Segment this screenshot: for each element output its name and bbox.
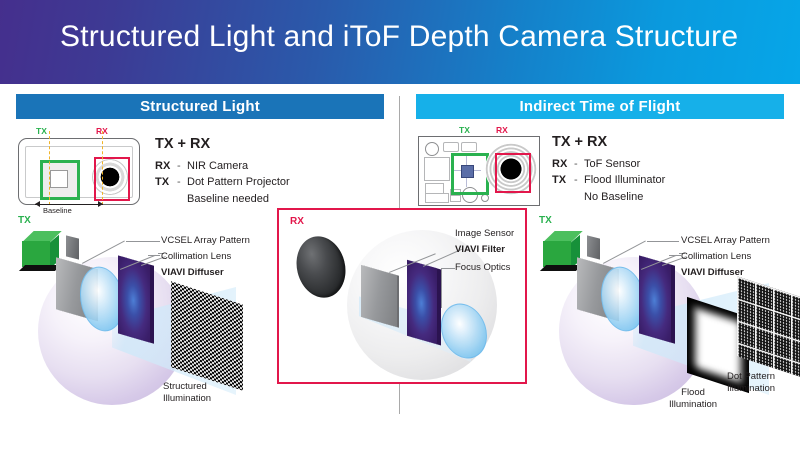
callout-vcsel-array-right: VCSEL Array Pattern — [681, 235, 770, 246]
specs-left-row-rx: RX - NIR Camera — [155, 159, 335, 175]
caption-flood-line1: Flood — [669, 387, 717, 399]
caption-structured-illumination: Structured Illumination — [163, 381, 211, 405]
leader-line-h-lens-left — [148, 255, 160, 256]
caption-flood-illumination: Flood Illumination — [669, 387, 717, 411]
specs-right-tx-dash: - — [574, 173, 584, 189]
section-header-structured-light: Structured Light — [16, 94, 384, 119]
pcb-component-a — [443, 142, 459, 152]
vcsel-cube-right — [543, 231, 577, 265]
specs-left-rx-value: NIR Camera — [187, 159, 248, 175]
leader-line-focus-optics-h — [441, 268, 455, 269]
callout-collimation-lens-left: Collimation Lens — [161, 251, 231, 262]
specs-left-rx-dash: - — [177, 159, 187, 175]
callout-vcsel-array-left: VCSEL Array Pattern — [161, 235, 250, 246]
specs-right-row-tx: TX - Flood Illuminator — [552, 173, 732, 189]
specs-right-row-rx: RX - ToF Sensor — [552, 157, 732, 173]
specs-right-tx-key: TX — [552, 173, 574, 189]
itof-camera-module — [418, 136, 540, 206]
section-header-left-label: Structured Light — [140, 98, 260, 115]
caption-dot-line1: Dot Pattern — [727, 371, 775, 383]
pcb-component-g — [450, 195, 461, 202]
specs-right-tx-value: Flood Illuminator — [584, 173, 665, 189]
specs-left-tx-key: TX — [155, 175, 177, 191]
specs-left-note: Baseline needed — [187, 192, 335, 208]
module-left-board — [25, 146, 133, 198]
tx-diagram-left-badge: TX — [18, 215, 31, 226]
leader-line-focus-optics-v — [441, 268, 442, 308]
tof-sensor-highlight — [495, 153, 531, 193]
pcb-component-e — [425, 193, 449, 203]
tx-optics-diagram-right: TX VCSEL Array Pattern Collimation Lens … — [531, 215, 800, 405]
pcb-screw-top-left — [425, 142, 439, 156]
callout-collimation-lens-right: Collimation Lens — [681, 251, 751, 262]
leader-line-h-vcsel-right — [647, 241, 679, 242]
tx-optics-diagram-left: TX VCSEL Array Pattern Collimation Lens … — [8, 215, 278, 405]
pcb-component-b — [461, 142, 477, 152]
module-right-rx-label: RX — [496, 125, 508, 135]
specs-left-tx-value: Dot Pattern Projector — [187, 175, 290, 191]
baseline-guide-right — [102, 131, 103, 205]
vcsel-die-right — [587, 235, 600, 259]
module-right-tx-label: TX — [459, 125, 470, 135]
caption-flood-line2: Illumination — [669, 399, 717, 411]
specs-right-heading: TX + RX — [552, 132, 732, 153]
section-header-indirect-tof: Indirect Time of Flight — [416, 94, 784, 119]
specs-right-rx-value: ToF Sensor — [584, 157, 640, 173]
caption-structured-line1: Structured — [163, 381, 211, 393]
rx-camera-highlight — [94, 157, 130, 201]
vcsel-die-left — [66, 235, 79, 259]
caption-dot-line2: Illumination — [727, 383, 775, 395]
specs-right-note: No Baseline — [584, 190, 732, 206]
callout-viavi-diffuser-right: VIAVI Diffuser — [681, 267, 744, 278]
specs-right-rx-dash: - — [574, 157, 584, 173]
title-banner: Structured Light and iToF Depth Camera S… — [0, 0, 800, 84]
leader-line-h-lens-right — [669, 255, 681, 256]
tx-projector-highlight — [40, 160, 80, 200]
caption-dot-pattern-illumination: Dot Pattern Illumination — [727, 371, 775, 395]
tx-illuminator-highlight — [451, 153, 489, 195]
callout-viavi-diffuser-left: VIAVI Diffuser — [161, 267, 224, 278]
baseline-caption: Baseline — [43, 206, 72, 215]
image-sensor-panel — [361, 265, 397, 327]
specs-left-tx-dash: - — [177, 175, 187, 191]
page-title: Structured Light and iToF Depth Camera S… — [60, 20, 760, 54]
rx-filter-disc — [290, 231, 352, 303]
pcb-component-c — [424, 157, 450, 181]
rx-optics-diagram: Image Sensor VIAVI Filter Focus Optics — [277, 208, 523, 380]
baseline-guide-left — [49, 131, 50, 205]
specs-left-rx-key: RX — [155, 159, 177, 175]
structured-light-specs: TX + RX RX - NIR Camera TX - Dot Pattern… — [155, 134, 335, 207]
structured-light-camera-module — [18, 138, 140, 205]
pcb-via — [481, 194, 489, 202]
specs-right-rx-key: RX — [552, 157, 574, 173]
callout-focus-optics: Focus Optics — [455, 262, 510, 273]
callout-viavi-filter: VIAVI Filter — [455, 244, 505, 255]
leader-line-h-vcsel-left — [126, 241, 160, 242]
vcsel-cube-left — [22, 231, 56, 265]
slide-root: Structured Light and iToF Depth Camera S… — [0, 0, 800, 450]
callout-image-sensor: Image Sensor — [455, 228, 514, 239]
module-left-tx-label: TX — [36, 126, 47, 136]
specs-left-row-tx: TX - Dot Pattern Projector — [155, 175, 335, 191]
caption-structured-line2: Illumination — [163, 393, 211, 405]
specs-left-heading: TX + RX — [155, 134, 335, 155]
viavi-filter-panel — [407, 260, 437, 345]
itof-specs: TX + RX RX - ToF Sensor TX - Flood Illum… — [552, 132, 732, 205]
section-header-right-label: Indirect Time of Flight — [520, 98, 681, 115]
tx-diagram-right-badge: TX — [539, 215, 552, 226]
